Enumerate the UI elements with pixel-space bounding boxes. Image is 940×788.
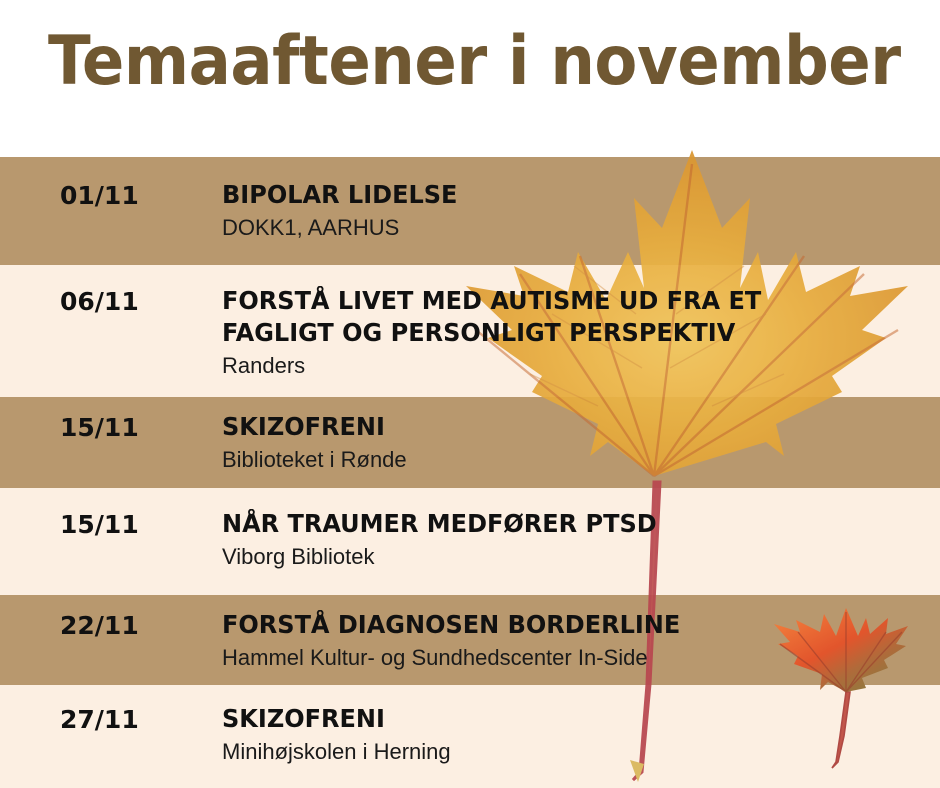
schedule-row[interactable]: 01/11BIPOLAR LIDELSEDOKK1, AARHUS (0, 157, 940, 265)
schedule-row[interactable]: 27/11SKIZOFRENIMinihøjskolen i Herning (0, 685, 940, 788)
event-date: 01/11 (60, 181, 139, 210)
event-title: NÅR TRAUMER MEDFØRER PTSD (222, 508, 902, 540)
schedule-row[interactable]: 15/11SKIZOFRENIBiblioteket i Rønde (0, 397, 940, 488)
event-venue: Minihøjskolen i Herning (222, 738, 930, 766)
event-date: 27/11 (60, 705, 139, 734)
schedule-row[interactable]: 06/11FORSTÅ LIVET MED AUTISME UD FRA ET … (0, 265, 940, 397)
event-body: FORSTÅ LIVET MED AUTISME UD FRA ET FAGLI… (222, 285, 930, 380)
event-body: SKIZOFRENIMinihøjskolen i Herning (222, 703, 930, 766)
event-title: SKIZOFRENI (222, 703, 902, 735)
event-title: FORSTÅ LIVET MED AUTISME UD FRA ET FAGLI… (222, 285, 902, 349)
event-title: BIPOLAR LIDELSE (222, 179, 902, 211)
poster-canvas: Temaaftener i november 01/11BIPOLAR LIDE… (0, 0, 940, 788)
poster-header: Temaaftener i november (0, 0, 940, 157)
event-date: 15/11 (60, 510, 139, 539)
event-venue: Randers (222, 352, 930, 380)
event-title: FORSTÅ DIAGNOSEN BORDERLINE (222, 609, 902, 641)
event-date: 06/11 (60, 287, 139, 316)
event-body: NÅR TRAUMER MEDFØRER PTSDViborg Bibliote… (222, 508, 930, 571)
event-venue: Hammel Kultur- og Sundhedscenter In-Side (222, 644, 930, 672)
event-body: SKIZOFRENIBiblioteket i Rønde (222, 411, 930, 474)
schedule-list: 01/11BIPOLAR LIDELSEDOKK1, AARHUS06/11FO… (0, 157, 940, 788)
event-venue: DOKK1, AARHUS (222, 214, 930, 242)
event-title: SKIZOFRENI (222, 411, 902, 443)
event-date: 15/11 (60, 413, 139, 442)
page-title: Temaaftener i november (48, 28, 901, 96)
event-venue: Viborg Bibliotek (222, 543, 930, 571)
event-body: BIPOLAR LIDELSEDOKK1, AARHUS (222, 179, 930, 242)
event-body: FORSTÅ DIAGNOSEN BORDERLINEHammel Kultur… (222, 609, 930, 672)
event-venue: Biblioteket i Rønde (222, 446, 930, 474)
event-date: 22/11 (60, 611, 139, 640)
schedule-row[interactable]: 15/11NÅR TRAUMER MEDFØRER PTSDViborg Bib… (0, 488, 940, 595)
schedule-row[interactable]: 22/11FORSTÅ DIAGNOSEN BORDERLINEHammel K… (0, 595, 940, 685)
